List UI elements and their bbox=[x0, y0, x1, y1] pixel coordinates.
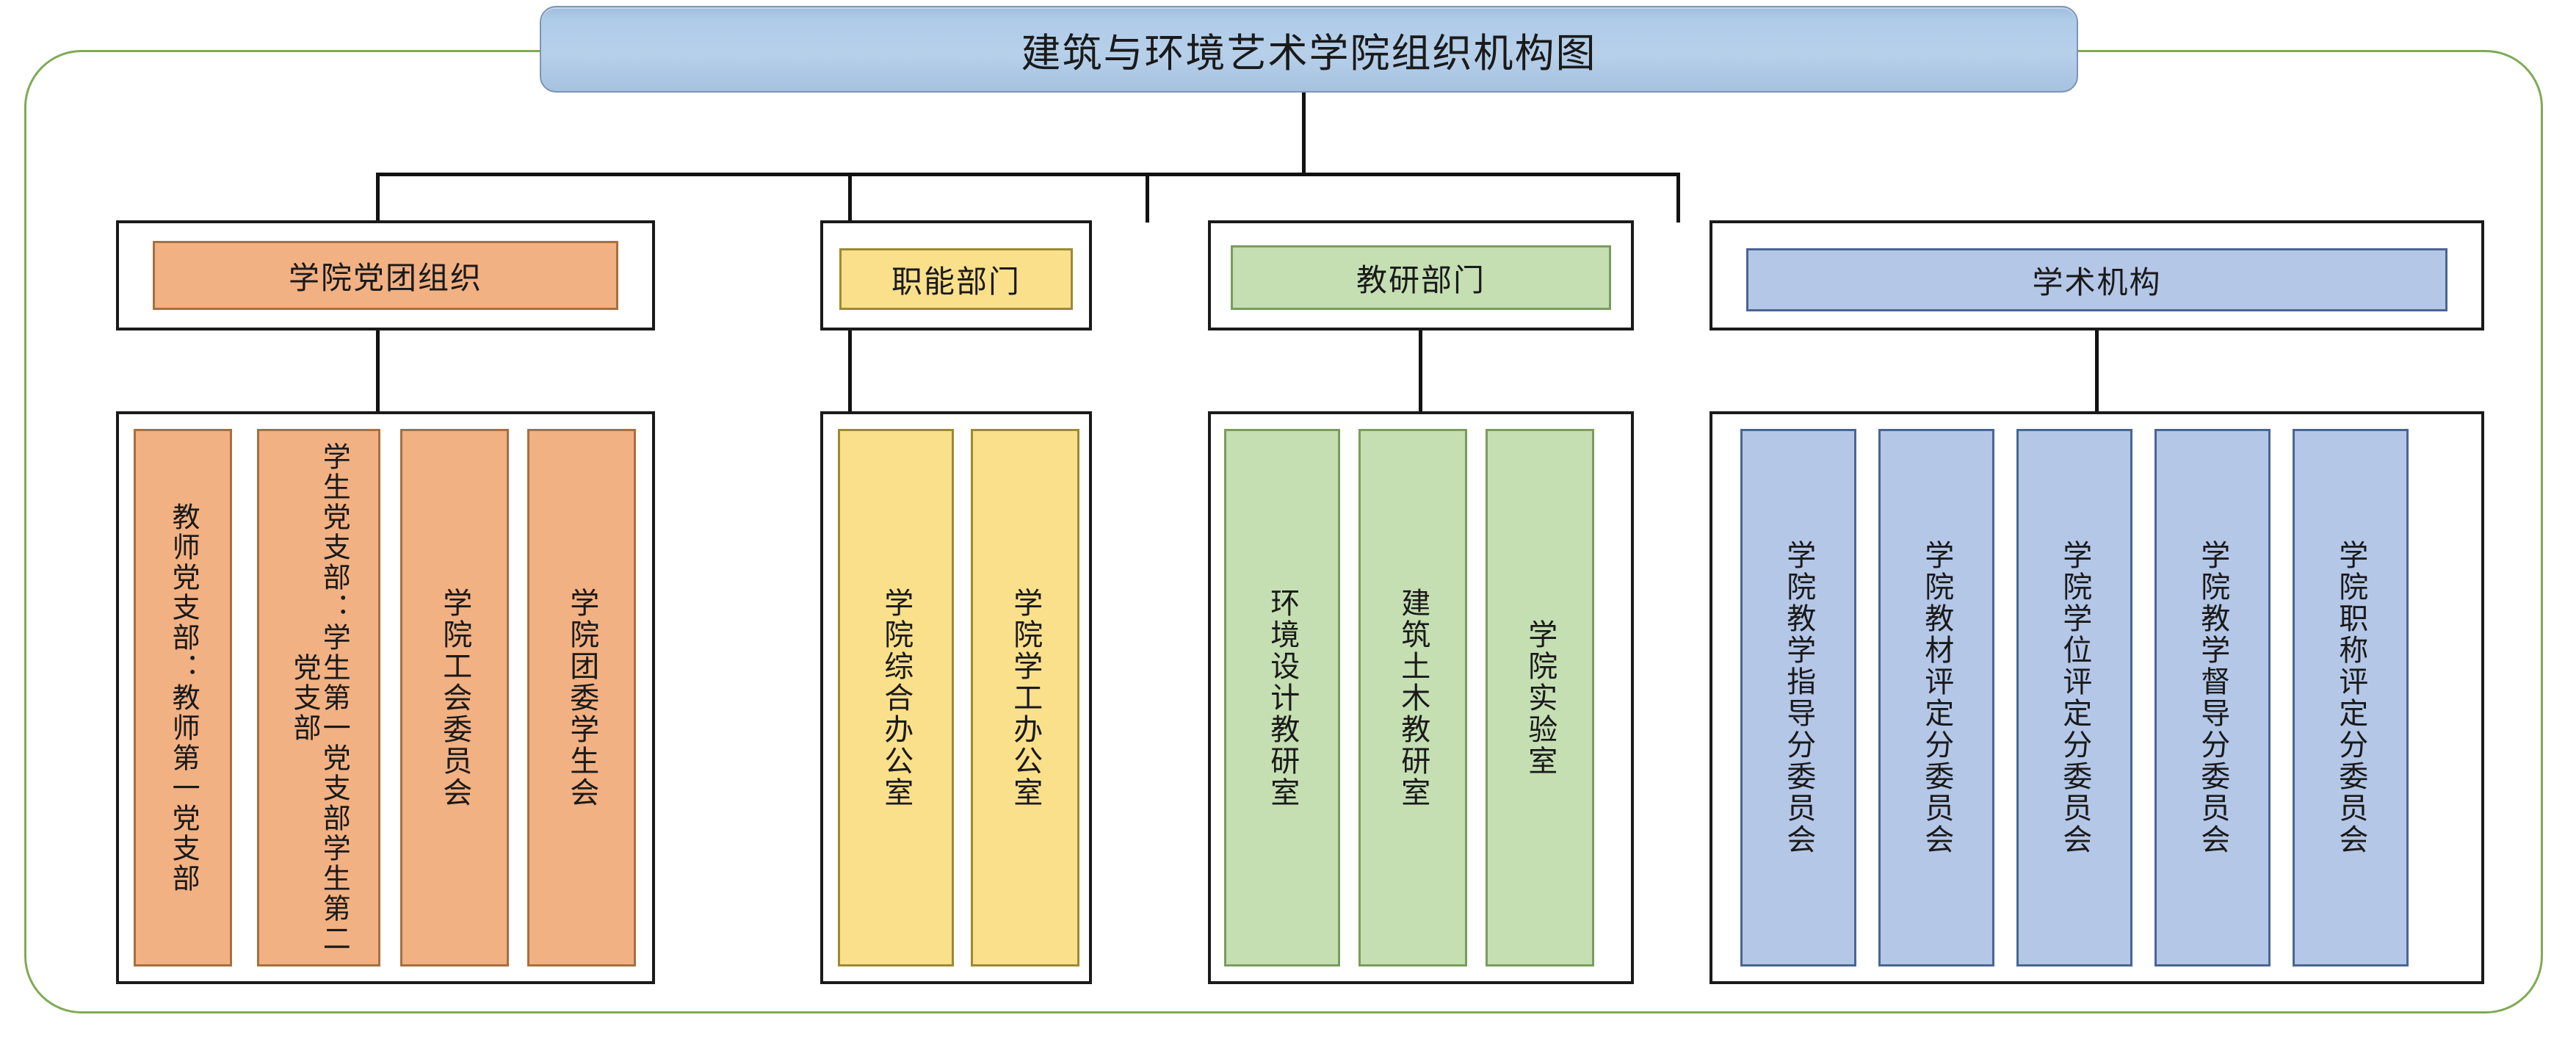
leaf-label: 学院教材评定分委员会 bbox=[1921, 540, 1952, 856]
connector-drop-group2 bbox=[848, 173, 852, 223]
connector-root-stem bbox=[1302, 93, 1306, 175]
group-header-functional[interactable]: 职能部门 bbox=[839, 248, 1073, 310]
group-header-academic[interactable]: 学术机构 bbox=[1746, 248, 2447, 311]
connector-root-bus bbox=[376, 173, 1680, 176]
leaf-label: 学院综合办公室 bbox=[880, 588, 911, 809]
connector-drop-group4 bbox=[1676, 173, 1680, 223]
leaf-teaching-supervision-subcommittee[interactable]: 学院教学督导分委员会 bbox=[2154, 429, 2271, 966]
group-header-party-league[interactable]: 学院党团组织 bbox=[153, 241, 618, 310]
leaf-label: 学生党支部：学生第一党支部学生第二党支部 bbox=[289, 431, 349, 964]
group-header-label: 学院党团组织 bbox=[289, 253, 482, 298]
leaf-label: 建筑土木教研室 bbox=[1397, 588, 1428, 809]
leaf-teacher-party-branch[interactable]: 教师党支部：教师第一党支部 bbox=[134, 429, 232, 966]
leaf-architecture-civil-office[interactable]: 建筑土木教研室 bbox=[1358, 429, 1467, 966]
leaf-textbook-evaluation-subcommittee[interactable]: 学院教材评定分委员会 bbox=[1878, 429, 1994, 966]
leaf-label: 环境设计教研室 bbox=[1267, 588, 1298, 809]
connector-group3-to-children bbox=[1419, 330, 1422, 413]
group-header-label: 学术机构 bbox=[2032, 258, 2161, 303]
leaf-general-office[interactable]: 学院综合办公室 bbox=[838, 429, 954, 966]
chart-title-box[interactable]: 建筑与环境艺术学院组织机构图 bbox=[540, 6, 2078, 93]
connector-drop-group3 bbox=[1146, 173, 1149, 223]
org-chart-canvas: 建筑与环境艺术学院组织机构图 学院党团组织 教师党支部：教师第一党支部 学生党支… bbox=[0, 0, 2576, 1037]
leaf-label: 学院学工办公室 bbox=[1010, 588, 1041, 809]
leaf-student-affairs-office[interactable]: 学院学工办公室 bbox=[971, 429, 1079, 966]
leaf-label: 学院教学指导分委员会 bbox=[1783, 540, 1814, 856]
leaf-teaching-guidance-subcommittee[interactable]: 学院教学指导分委员会 bbox=[1740, 429, 1856, 966]
group-header-teaching-research[interactable]: 教研部门 bbox=[1231, 245, 1611, 310]
leaf-student-party-branch[interactable]: 学生党支部：学生第一党支部学生第二党支部 bbox=[257, 429, 380, 966]
leaf-label: 学院实验室 bbox=[1524, 619, 1555, 777]
leaf-youth-league-student-union[interactable]: 学院团委学生会 bbox=[527, 429, 636, 966]
group-header-label: 教研部门 bbox=[1356, 256, 1486, 300]
leaf-label: 教师党支部：教师第一党支部 bbox=[168, 502, 198, 894]
leaf-college-union-committee[interactable]: 学院工会委员会 bbox=[400, 429, 509, 966]
leaf-college-laboratory[interactable]: 学院实验室 bbox=[1486, 429, 1594, 966]
leaf-label: 学院团委学生会 bbox=[566, 588, 597, 809]
page-title: 建筑与环境艺术学院组织机构图 bbox=[1021, 21, 1597, 79]
leaf-label: 学院职称评定分委员会 bbox=[2335, 540, 2366, 856]
leaf-label: 学院教学督导分委员会 bbox=[2197, 540, 2228, 856]
group-header-label: 职能部门 bbox=[891, 257, 1021, 302]
leaf-environmental-design-office[interactable]: 环境设计教研室 bbox=[1224, 429, 1340, 966]
connector-group4-to-children bbox=[2095, 330, 2099, 413]
leaf-label: 学院工会委员会 bbox=[439, 588, 470, 809]
connector-group2-to-children bbox=[848, 330, 852, 413]
connector-drop-group1 bbox=[376, 173, 380, 223]
leaf-title-evaluation-subcommittee[interactable]: 学院职称评定分委员会 bbox=[2293, 429, 2409, 966]
leaf-degree-evaluation-subcommittee[interactable]: 学院学位评定分委员会 bbox=[2016, 429, 2132, 966]
connector-group1-to-children bbox=[376, 330, 380, 413]
leaf-label: 学院学位评定分委员会 bbox=[2059, 540, 2090, 856]
